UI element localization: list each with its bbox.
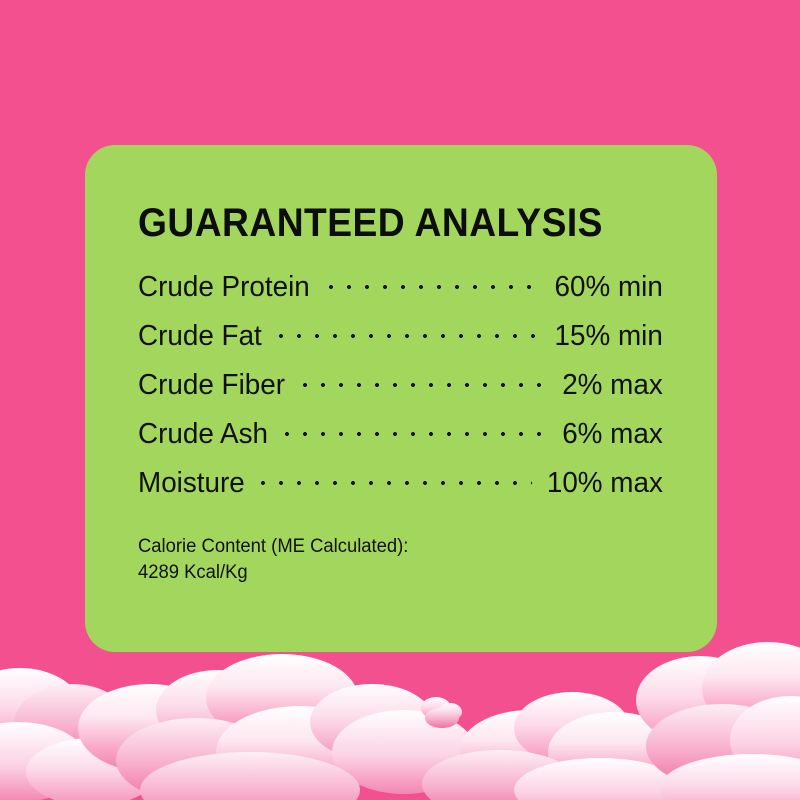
- nutrient-label: Crude Fiber: [138, 371, 285, 400]
- dot-leader: [303, 365, 548, 394]
- table-row: Moisture 10% max: [138, 463, 663, 512]
- nutrient-value: 15% min: [555, 322, 663, 351]
- dot-leader: [285, 414, 548, 443]
- page-title: GUARANTEED ANALYSIS: [138, 203, 641, 243]
- nutrient-label: Crude Fat: [138, 322, 262, 351]
- table-row: Crude Protein 60% min: [138, 267, 663, 316]
- dot-leader: [261, 463, 532, 492]
- calorie-content-label: Calorie Content (ME Calculated):: [138, 534, 663, 560]
- nutrient-label: Crude Ash: [138, 420, 268, 449]
- calorie-content-block: Calorie Content (ME Calculated): 4289 Kc…: [138, 534, 663, 586]
- table-row: Crude Fat 15% min: [138, 316, 663, 365]
- table-row: Crude Ash 6% max: [138, 414, 663, 463]
- table-row: Crude Fiber 2% max: [138, 365, 663, 414]
- nutrient-value: 60% min: [555, 273, 663, 302]
- nutrient-value: 2% max: [562, 371, 663, 400]
- nutrient-label: Crude Protein: [138, 273, 310, 302]
- card-content: GUARANTEED ANALYSIS Crude Protein 60% mi…: [138, 203, 679, 586]
- nutrient-value: 6% max: [562, 420, 663, 449]
- dot-leader: [329, 267, 540, 296]
- nutrient-label: Moisture: [138, 469, 245, 498]
- dot-leader: [279, 316, 540, 345]
- guaranteed-analysis-card: GUARANTEED ANALYSIS Crude Protein 60% mi…: [85, 145, 717, 652]
- calorie-content-value: 4289 Kcal/Kg: [138, 560, 663, 586]
- nutrient-value: 10% max: [547, 469, 663, 498]
- analysis-rows: Crude Protein 60% min Crude Fat 15% min …: [138, 267, 679, 512]
